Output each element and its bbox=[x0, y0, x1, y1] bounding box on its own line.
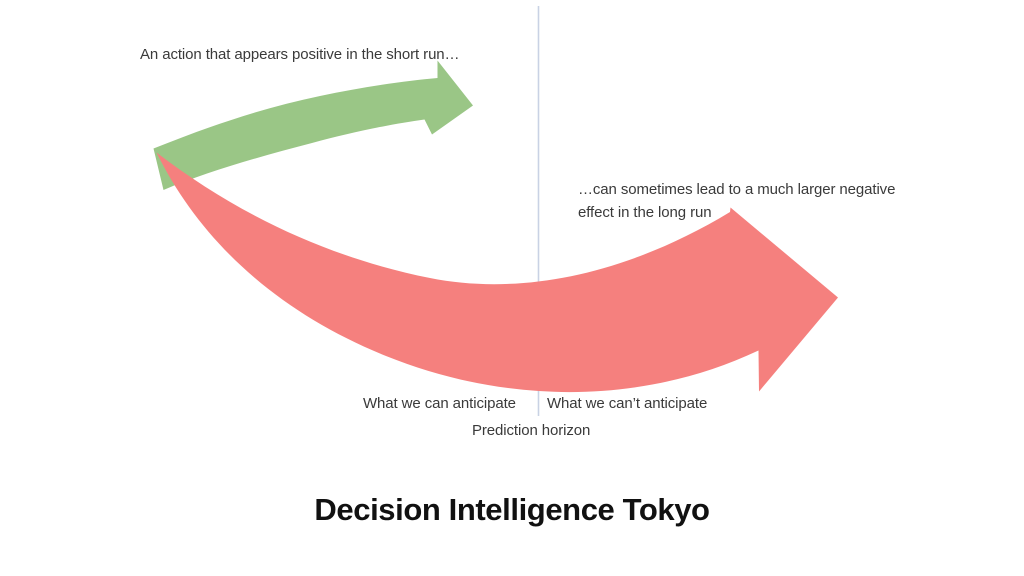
axis-label-anticipate: What we can anticipate bbox=[363, 395, 516, 412]
page-title: Decision Intelligence Tokyo bbox=[0, 492, 1024, 528]
green-curved-arrow bbox=[154, 61, 474, 191]
short-run-annotation: An action that appears positive in the s… bbox=[140, 43, 459, 66]
axis-label-cannot-anticipate: What we can’t anticipate bbox=[547, 395, 707, 412]
arrow-diagram bbox=[0, 0, 1024, 576]
long-run-annotation: …can sometimes lead to a much larger neg… bbox=[578, 178, 928, 224]
slide-canvas: An action that appears positive in the s… bbox=[0, 0, 1024, 576]
axis-label-prediction-horizon: Prediction horizon bbox=[472, 422, 590, 439]
